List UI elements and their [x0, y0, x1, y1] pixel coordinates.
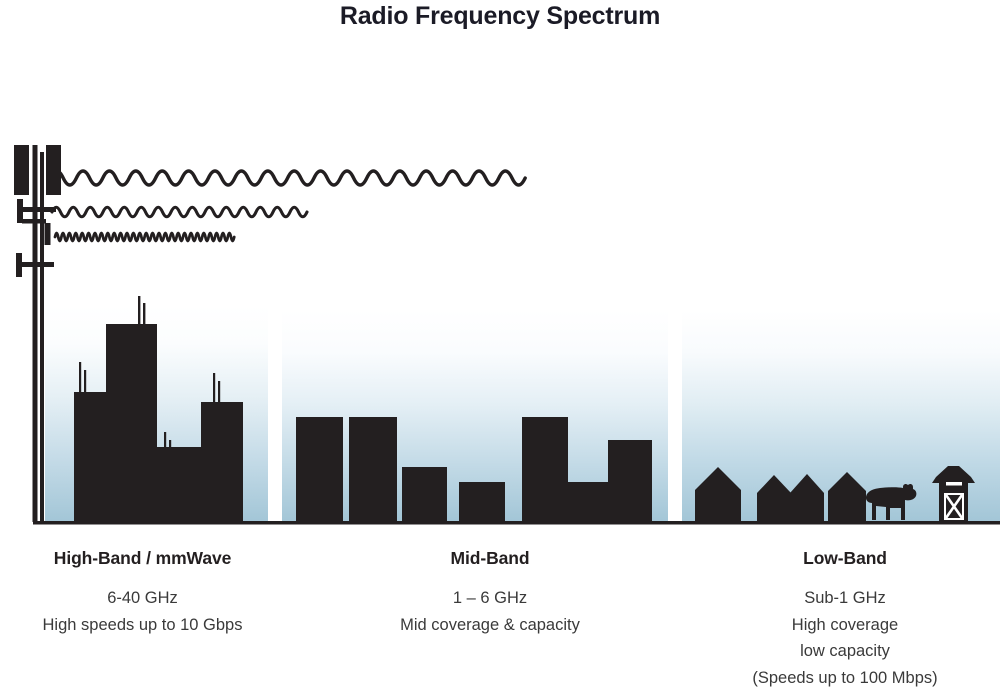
- infographic-root: Radio Frequency Spectrum: [0, 0, 1000, 700]
- skyscraper-building: [106, 324, 157, 522]
- skyscraper-building: [201, 402, 243, 522]
- band-details-low-band: Sub-1 GHz High coverage low capacity (Sp…: [690, 585, 1000, 692]
- band-caption-low-band: Low-Band Sub-1 GHz High coverage low cap…: [690, 548, 1000, 692]
- radio-waves: [50, 171, 525, 241]
- band-speed-low-band: (Speeds up to 100 Mbps): [690, 665, 1000, 692]
- ground-baseline: [33, 521, 1000, 525]
- band-name-low-band: Low-Band: [690, 548, 1000, 569]
- long-wavelength-wave: [50, 171, 525, 185]
- band-capacity-low-band: low capacity: [690, 638, 1000, 665]
- band-frequency-low-band: Sub-1 GHz: [690, 585, 1000, 612]
- medium-wavelength-wave: [52, 207, 307, 217]
- midband-building: [522, 417, 568, 522]
- skyscraper-spire: [79, 362, 81, 394]
- skyscraper-spire: [84, 370, 86, 394]
- band-caption-high-band: High-Band / mmWave 6-40 GHz High speeds …: [0, 548, 285, 638]
- midband-building: [608, 440, 652, 522]
- midband-building: [402, 467, 447, 522]
- skyscraper-spire: [218, 381, 220, 405]
- tower-antenna-panel-1: [14, 145, 29, 195]
- skyscraper-spire: [213, 373, 215, 405]
- tower-antenna-panel-4: [45, 223, 51, 245]
- band-name-high-band: High-Band / mmWave: [0, 548, 285, 569]
- tower-crossbar-2: [22, 219, 46, 224]
- skyscraper-spire: [138, 296, 140, 328]
- tower-antenna-panel-2: [46, 145, 61, 195]
- tower-crossbar-1: [22, 207, 56, 212]
- midband-building: [459, 482, 505, 522]
- barn-hayloft-window: [946, 482, 962, 486]
- midband-building: [568, 482, 610, 522]
- skyscraper-building: [74, 392, 106, 522]
- band-coverage-low-band: High coverage: [690, 612, 1000, 639]
- band-caption-mid-band: Mid-Band 1 – 6 GHz Mid coverage & capaci…: [345, 548, 635, 638]
- band-details-mid-band: 1 – 6 GHz Mid coverage & capacity: [345, 585, 635, 638]
- tower-antenna-panel-5: [16, 253, 22, 277]
- band-details-high-band: 6-40 GHz High speeds up to 10 Gbps: [0, 585, 285, 638]
- midband-building: [296, 417, 343, 522]
- midband-building: [349, 417, 397, 522]
- band-frequency-high-band: 6-40 GHz: [0, 585, 285, 612]
- tower-mast-left: [33, 145, 38, 522]
- band-frequency-mid-band: 1 – 6 GHz: [345, 585, 635, 612]
- band-name-mid-band: Mid-Band: [345, 548, 635, 569]
- tower-crossbar-3: [22, 262, 54, 267]
- skyscraper-building: [157, 447, 201, 522]
- short-wavelength-wave: [55, 233, 234, 241]
- band-description-high-band: High speeds up to 10 Gbps: [0, 612, 285, 639]
- band-description-mid-band: Mid coverage & capacity: [345, 612, 635, 639]
